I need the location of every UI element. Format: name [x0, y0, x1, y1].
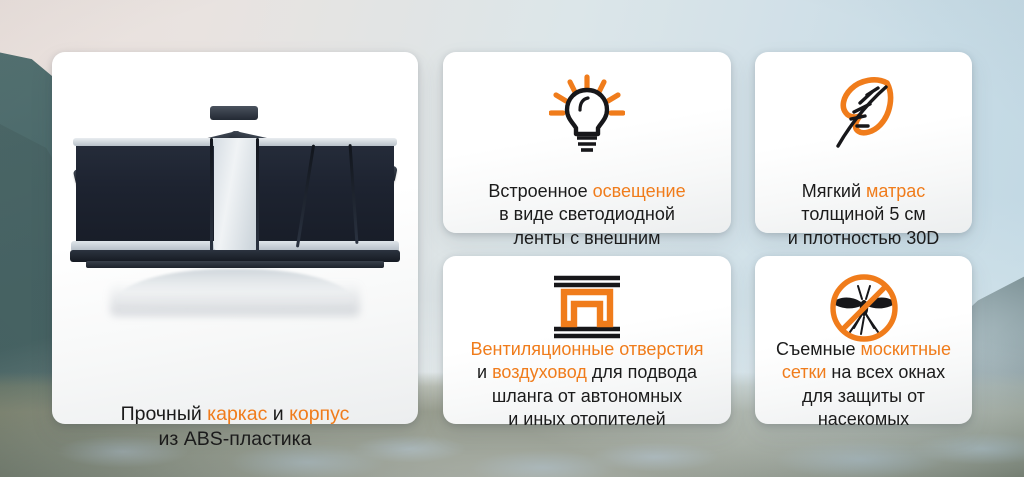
tent-ridge: [210, 106, 258, 120]
lighting-feature-card[interactable]: Встроенное освещениев виде светодиоднойл…: [443, 52, 731, 233]
caption-line: Встроенное освещение: [443, 180, 731, 203]
caption-highlight: воздуховод: [492, 362, 587, 382]
caption-text: Съемные: [776, 339, 861, 359]
caption-highlight: освещение: [593, 181, 686, 201]
caption-line: и плотностью 30D: [755, 227, 972, 250]
feather-icon: [755, 74, 972, 152]
caption-line: для защиты от: [755, 385, 972, 408]
lightbulb-icon: [443, 74, 731, 152]
caption-line: толщиной 5 см: [755, 203, 972, 226]
caption-highlight: матрас: [866, 181, 925, 201]
ventilation-caption: Вентиляционные отверстияи воздуховод для…: [443, 338, 731, 432]
caption-highlight: корпус: [289, 403, 349, 425]
caption-text: Мягкий: [802, 181, 866, 201]
caption-text: для подвода: [587, 362, 697, 382]
caption-text: ленты с внешним: [514, 228, 661, 248]
no-mosquito-icon: [755, 272, 972, 344]
caption-line: Съемные москитные: [755, 338, 972, 361]
caption-line: Прочный каркас и корпус: [52, 402, 418, 427]
tent-seam: [256, 138, 259, 252]
vent-icon: [443, 274, 731, 340]
caption-line: в виде светодиодной: [443, 203, 731, 226]
caption-text: насекомых: [818, 409, 909, 429]
caption-line: из ABS-пластика: [52, 427, 418, 452]
tent-seam: [210, 138, 213, 252]
caption-highlight: сетки: [782, 362, 827, 382]
mosquito-net-caption: Съемные москитныесетки на всех окнахдля …: [755, 338, 972, 432]
caption-line: Мягкий матрас: [755, 180, 972, 203]
mosquito-net-feature-card[interactable]: Съемные москитныесетки на всех окнахдля …: [755, 256, 972, 424]
caption-text: Прочный: [121, 403, 208, 425]
caption-highlight: каркас: [207, 403, 267, 425]
caption-highlight: москитные: [861, 339, 951, 359]
product-photo-card[interactable]: Прочный каркас и корпусиз ABS-пластика: [52, 52, 418, 424]
car-roof: [116, 269, 354, 309]
caption-text: для защиты от: [802, 386, 925, 406]
caption-text: толщиной 5 см: [801, 204, 925, 224]
caption-text: и: [477, 362, 492, 382]
caption-text: на всех окнах: [826, 362, 945, 382]
caption-text: Встроенное: [488, 181, 592, 201]
caption-line: шланга от автономных: [443, 385, 731, 408]
tent-window-panel: [214, 138, 256, 250]
roof-top-tent-image: [52, 60, 418, 338]
caption-line: ленты с внешним: [443, 227, 731, 250]
caption-line: и иных отопителей: [443, 408, 731, 431]
caption-text: и: [267, 403, 289, 425]
tent-roof-rack: [86, 261, 384, 268]
caption-line: сетки на всех окнах: [755, 361, 972, 384]
mattress-feature-card[interactable]: Мягкий матрастолщиной 5 сми плотностью 3…: [755, 52, 972, 233]
caption-highlight: Вентиляционные отверстия: [471, 339, 704, 359]
caption-text: и плотностью 30D: [788, 228, 939, 248]
caption-text: шланга от автономных: [492, 386, 682, 406]
feature-grid-page: Прочный каркас и корпусиз ABS-пластика: [0, 0, 1024, 477]
tent-illustration: [70, 86, 400, 286]
caption-line: Вентиляционные отверстия: [443, 338, 731, 361]
caption-text: из ABS-пластика: [159, 428, 312, 450]
caption-text: и иных отопителей: [508, 409, 665, 429]
caption-text: в виде светодиодной: [499, 204, 675, 224]
product-caption: Прочный каркас и корпусиз ABS-пластика: [52, 402, 418, 453]
ventilation-feature-card[interactable]: Вентиляционные отверстияи воздуховод для…: [443, 256, 731, 424]
caption-line: насекомых: [755, 408, 972, 431]
caption-line: и воздуховод для подвода: [443, 361, 731, 384]
